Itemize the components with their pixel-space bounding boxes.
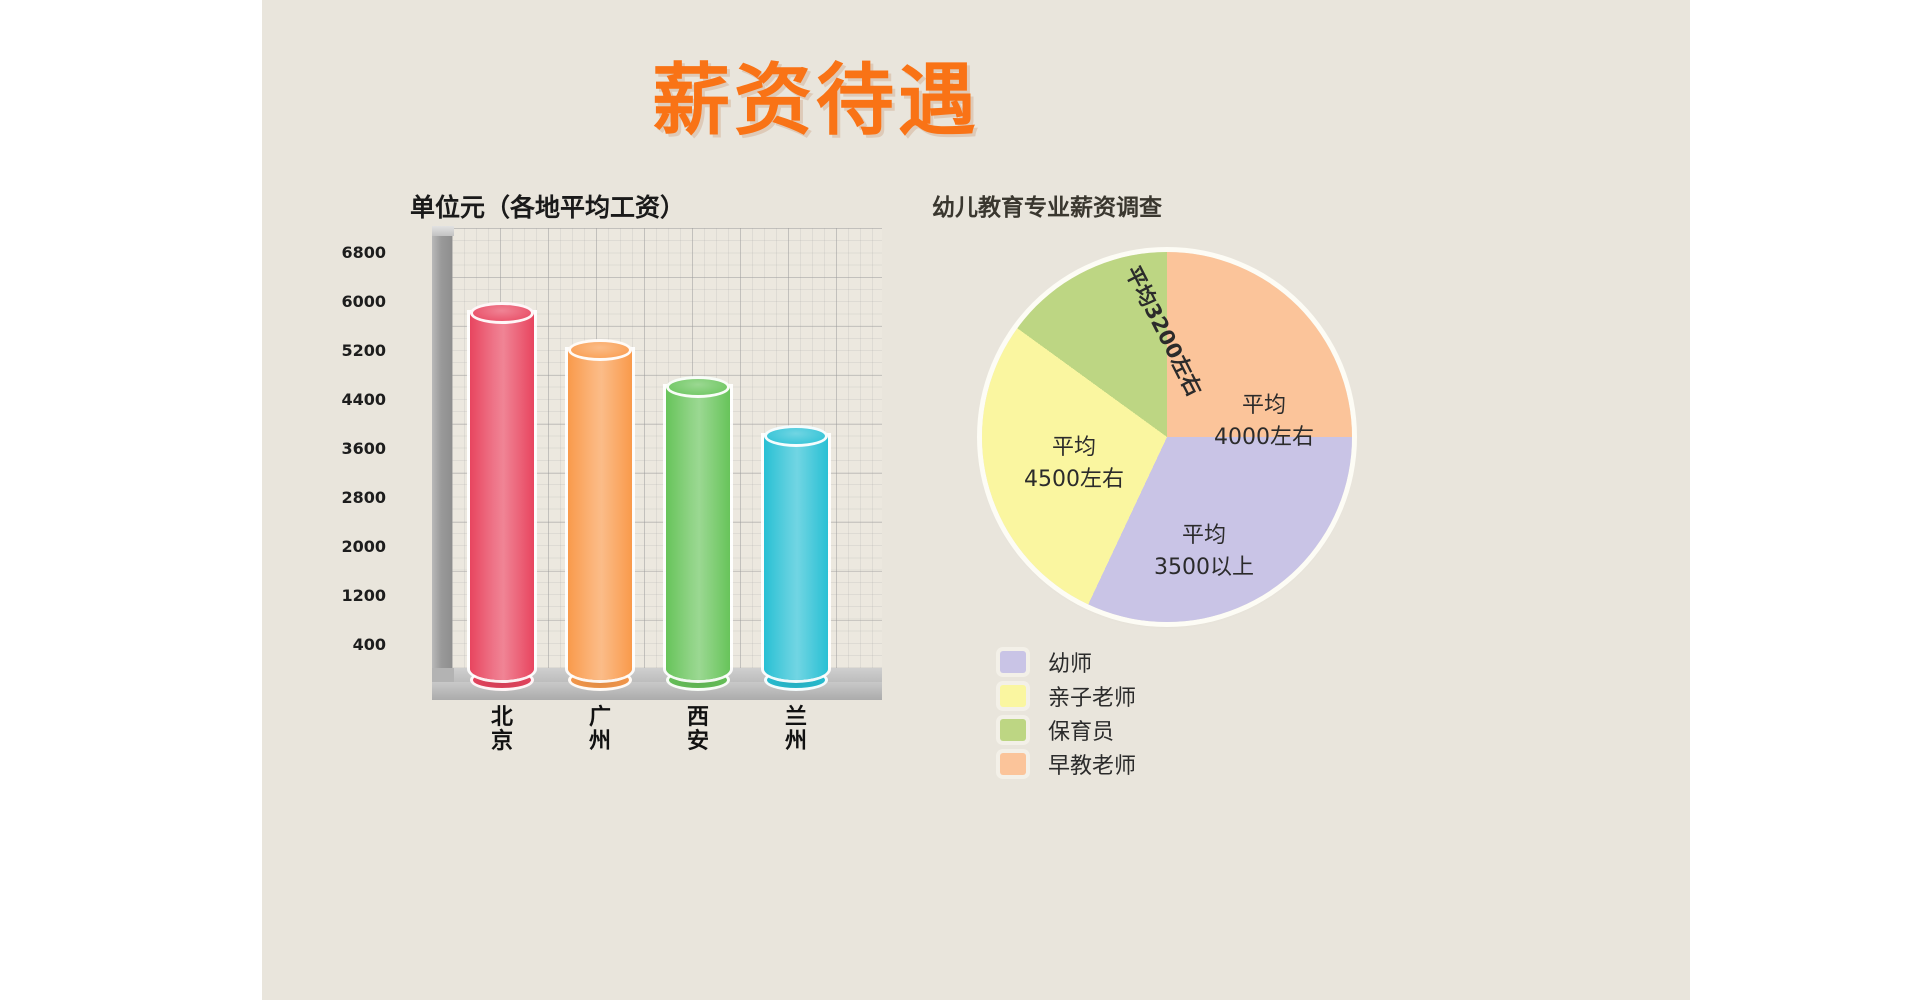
y-tick-label: 1200 <box>330 586 386 605</box>
bar-body <box>764 436 828 680</box>
legend-item[interactable]: 幼师 <box>1000 646 1136 678</box>
bar-cylinder <box>568 350 632 680</box>
page-title: 薪资待遇 <box>652 38 980 150</box>
legend-label: 幼师 <box>1048 646 1092 678</box>
x-tick-label: 西安 <box>666 706 730 754</box>
legend-item[interactable]: 保育员 <box>1000 714 1136 746</box>
y-tick-label: 6000 <box>330 292 386 311</box>
y-tick-label: 4400 <box>330 390 386 409</box>
x-tick-label: 兰州 <box>764 706 828 754</box>
y-tick-label: 400 <box>330 635 386 654</box>
legend-label: 保育员 <box>1048 714 1114 746</box>
bar-top-ellipse <box>568 339 632 361</box>
bar-top-ellipse <box>764 425 828 447</box>
bar-top-ellipse <box>666 376 730 398</box>
pie-chart-title: 幼儿教育专业薪资调查 <box>932 188 1162 222</box>
bar-chart-title: 单位元（各地平均工资） <box>410 188 685 224</box>
bar-body <box>666 387 730 680</box>
bar-body <box>470 313 534 680</box>
legend-item[interactable]: 早教老师 <box>1000 748 1136 780</box>
legend-item[interactable]: 亲子老师 <box>1000 680 1136 712</box>
pie-chart: 幼儿教育专业薪资调查 平均 4000左右 平均 3500以上 平均 4500左右… <box>932 180 1632 800</box>
bar-cylinder <box>666 387 730 680</box>
y-axis-wall <box>432 236 452 668</box>
y-tick-label: 6800 <box>330 243 386 262</box>
y-tick-label: 2800 <box>330 488 386 507</box>
bar-body <box>568 350 632 680</box>
legend-swatch <box>1000 719 1026 741</box>
y-tick-label: 3600 <box>330 439 386 458</box>
bar-cylinder <box>470 313 534 680</box>
legend-swatch <box>1000 651 1026 673</box>
bar-plot-area: 68006000520044003600280020001200400 北京广州… <box>388 228 882 698</box>
legend-swatch <box>1000 685 1026 707</box>
floor-left <box>432 668 454 682</box>
bar-cylinder <box>764 436 828 680</box>
y-tick-label: 5200 <box>330 341 386 360</box>
axis-wall-cap <box>432 226 454 236</box>
pie-label-parent-child: 平均 4500左右 <box>1024 432 1124 496</box>
pie-label-kindergarten: 平均 3500以上 <box>1154 520 1254 584</box>
pie-legend: 幼师亲子老师保育员早教老师 <box>1000 646 1136 782</box>
legend-label: 早教老师 <box>1048 748 1136 780</box>
legend-label: 亲子老师 <box>1048 680 1136 712</box>
legend-swatch <box>1000 753 1026 775</box>
pie-label-early-edu: 平均 4000左右 <box>1214 390 1314 454</box>
slide-canvas: 薪资待遇 单位元（各地平均工资） 68006000520044003600280… <box>262 0 1690 1000</box>
bar-chart: 单位元（各地平均工资） 6800600052004400360028002000… <box>322 180 962 780</box>
y-axis-labels: 68006000520044003600280020001200400 <box>330 228 386 668</box>
x-tick-label: 北京 <box>470 706 534 754</box>
x-tick-label: 广州 <box>568 706 632 754</box>
y-tick-label: 2000 <box>330 537 386 556</box>
